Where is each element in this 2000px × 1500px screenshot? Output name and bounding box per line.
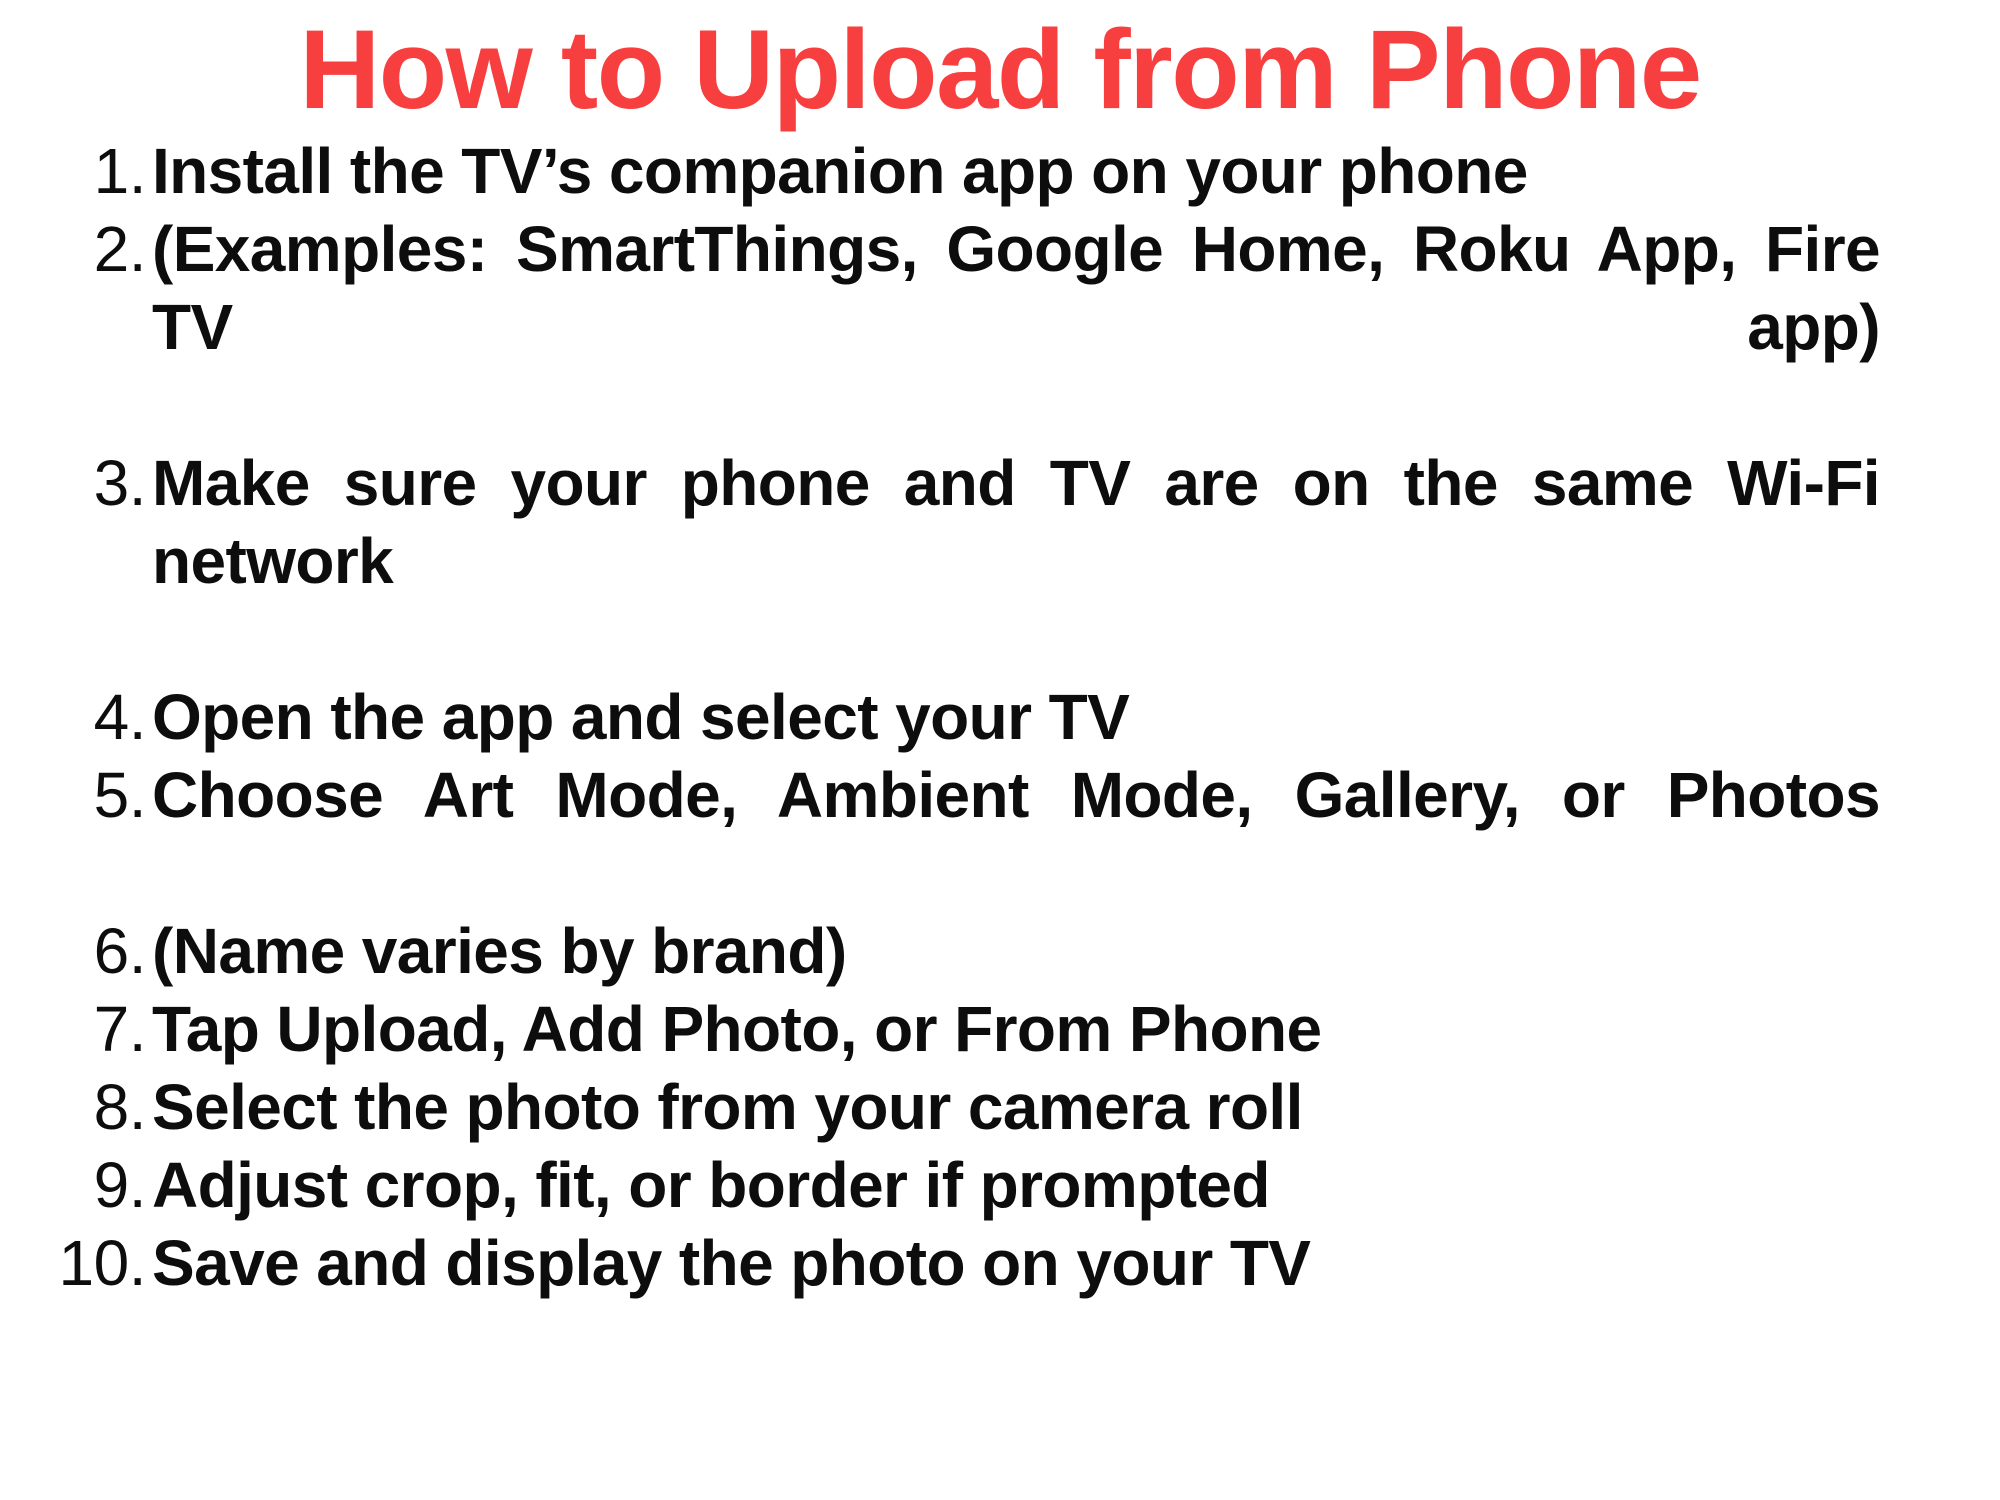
list-item: 8. Select the photo from your camera rol… [0, 1068, 1880, 1146]
list-item: 9. Adjust crop, fit, or border if prompt… [0, 1146, 1880, 1224]
list-item-text: (Name varies by brand) [152, 912, 1880, 990]
list-item-text: Save and display the photo on your TV [152, 1224, 1880, 1302]
list-item-text: Install the TV’s companion app on your p… [152, 132, 1880, 210]
list-item-text: Make sure your phone and TV are on the s… [152, 444, 1880, 678]
list-item-number: 4. [40, 678, 152, 756]
list-item-text: (Examples: SmartThings, Google Home, Rok… [152, 210, 1880, 444]
slide-canvas: How to Upload from Phone 1. Install the … [0, 0, 2000, 1500]
list-item: 1. Install the TV’s companion app on you… [0, 132, 1880, 210]
list-item-number: 2. [40, 210, 152, 288]
list-item-text: Tap Upload, Add Photo, or From Phone [152, 990, 1880, 1068]
list-item: 6. (Name varies by brand) [0, 912, 1880, 990]
list-item-text: Adjust crop, fit, or border if prompted [152, 1146, 1880, 1224]
list-item-number: 1. [40, 132, 152, 210]
list-item-number: 9. [40, 1146, 152, 1224]
list-item-number: 3. [40, 444, 152, 522]
page-title: How to Upload from Phone [0, 4, 2000, 136]
list-item: 7. Tap Upload, Add Photo, or From Phone [0, 990, 1880, 1068]
list-item: 2. (Examples: SmartThings, Google Home, … [0, 210, 1880, 444]
list-item-text: Open the app and select your TV [152, 678, 1880, 756]
list-item-number: 10. [40, 1224, 152, 1302]
list-item-text: Select the photo from your camera roll [152, 1068, 1880, 1146]
list-item-text: Choose Art Mode, Ambient Mode, Gallery, … [152, 756, 1880, 912]
list-item-number: 7. [40, 990, 152, 1068]
list-item-number: 5. [40, 756, 152, 834]
list-item: 3. Make sure your phone and TV are on th… [0, 444, 1880, 678]
list-item: 4. Open the app and select your TV [0, 678, 1880, 756]
instructions-ordered-list: 1. Install the TV’s companion app on you… [0, 132, 2000, 1302]
list-item-number: 8. [40, 1068, 152, 1146]
list-item: 10. Save and display the photo on your T… [0, 1224, 1880, 1302]
list-item-number: 6. [40, 912, 152, 990]
list-item: 5. Choose Art Mode, Ambient Mode, Galler… [0, 756, 1880, 912]
